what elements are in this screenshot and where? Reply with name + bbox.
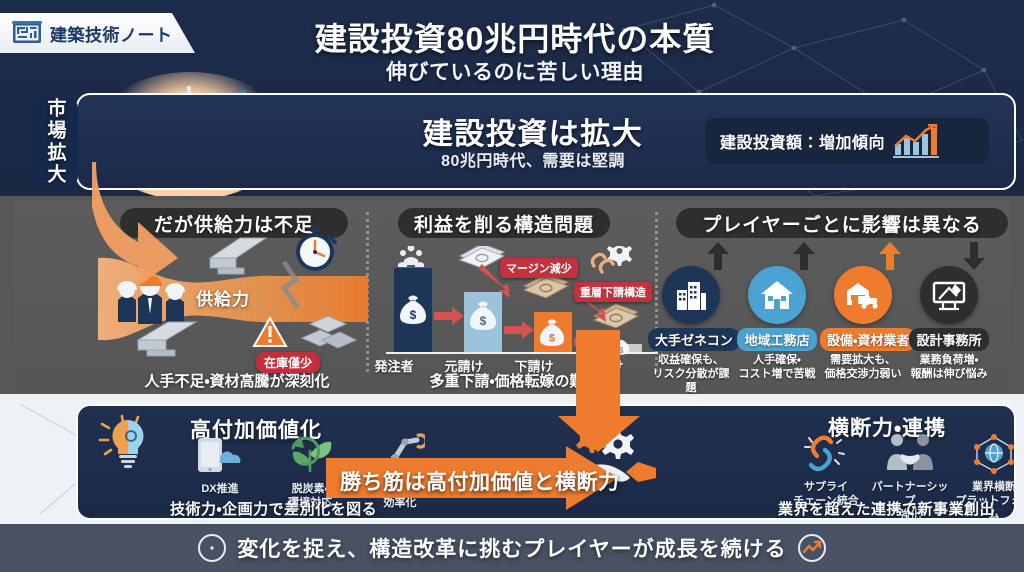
warehouse-truck-icon — [844, 279, 882, 311]
player-card-1[interactable]: 地域工務店 人手確保・コスト増で苦戦 — [734, 266, 820, 382]
player-icon-circle — [920, 266, 978, 324]
market-expansion-card: 建設投資は拡大 80兆円時代、需要は堅調 建設投資額：増加傾向 — [76, 93, 1016, 190]
kpi-label: 建設投資額：増加傾向 — [720, 129, 885, 153]
lightbulb-gear-icon — [96, 412, 162, 474]
panel-heading-profit: 利益を削る構造問題 — [398, 208, 610, 238]
player-name: 設計事務所 — [909, 328, 988, 351]
tablet-cloud-icon — [196, 436, 244, 476]
bar-chart-up-icon — [893, 124, 939, 158]
player-desc: 業務負荷増・報酬は伸び悩み — [906, 354, 992, 382]
mini-card-dx[interactable]: DX推進 — [178, 436, 262, 497]
player-card-2[interactable]: 設備・資材業者 需要拡大も、価格交渉力弱い — [820, 266, 906, 382]
network-globe-icon — [971, 432, 1016, 474]
player-desc: 収益確保も、リスク分散が課題 — [648, 354, 734, 395]
compass-icon — [197, 533, 227, 563]
footer-text: 変化を捉え、構造改革に挑むプレイヤーが成長を続ける — [237, 533, 786, 563]
player-desc: 人手確保・コスト増で苦戦 — [734, 354, 820, 382]
win-strategy-arrow-text: 勝ち筋は高付加価値と横断力 — [340, 466, 580, 496]
collaboration-footer: 業界を超えた連携で新事業創出 — [778, 498, 995, 519]
player-desc: 需要拡大も、価格交渉力弱い — [820, 354, 906, 382]
player-icon-circle — [662, 266, 720, 324]
player-name: 設備・資材業者 — [820, 328, 916, 351]
player-icon-circle — [748, 266, 806, 324]
brand-logo-chip[interactable]: 建築技術ノート — [0, 13, 195, 53]
trend-up-circle-icon — [797, 533, 827, 563]
drafting-board-icon — [931, 278, 967, 312]
panel-caption-supply: 人手不足・資材高騰が深刻化 — [112, 370, 362, 391]
page-subtitle: 伸びているのに苦しい理由 — [280, 56, 750, 86]
infographic-page: 建築技術ノート 建設投資80兆円時代の本質 伸びているのに苦しい理由 — [0, 0, 1024, 572]
player-name: 大手ゼネコン — [648, 328, 740, 351]
player-card-3[interactable]: 設計事務所 業務負荷増・報酬は伸び悩み — [906, 266, 992, 382]
margin-decrease-tag: マージン減少 — [500, 258, 578, 278]
handshake-people-icon — [882, 432, 938, 474]
player-name: 地域工務店 — [737, 328, 816, 351]
multilayer-subcontract-tag: 重層下請構造 — [574, 282, 652, 302]
market-expansion-subtitle: 80兆円時代、需要は堅調 — [368, 147, 698, 171]
office-building-icon — [674, 278, 708, 312]
chain-link-icon — [803, 434, 849, 474]
kpi-badge[interactable]: 建設投資額：増加傾向 — [704, 117, 990, 165]
panel-caption-profit: 多重下請・価格転嫁の難しさ — [386, 370, 658, 391]
house-icon — [759, 278, 795, 312]
player-icon-circle — [834, 266, 892, 324]
header-band: 建築技術ノート 建設投資80兆円時代の本質 伸びているのに苦しい理由 — [0, 0, 1024, 196]
supply-capacity-label: 供給力 — [196, 285, 250, 310]
mini-label: DX推進 — [178, 483, 262, 497]
blueprint-icon — [12, 20, 42, 46]
sidebar-tab-market[interactable]: 市場拡大 — [32, 98, 78, 186]
player-card-0[interactable]: 大手ゼネコン 収益確保も、リスク分散が課題 — [648, 266, 734, 395]
footer-bar: 変化を捉え、構造改革に挑むプレイヤーが成長を続ける — [0, 524, 1024, 572]
panel-heading-players: プレイヤーごとに影響は異なる — [676, 208, 1008, 238]
page-title: 建設投資80兆円時代の本質 — [280, 14, 750, 60]
brand-logo-text: 建築技術ノート — [50, 21, 173, 46]
